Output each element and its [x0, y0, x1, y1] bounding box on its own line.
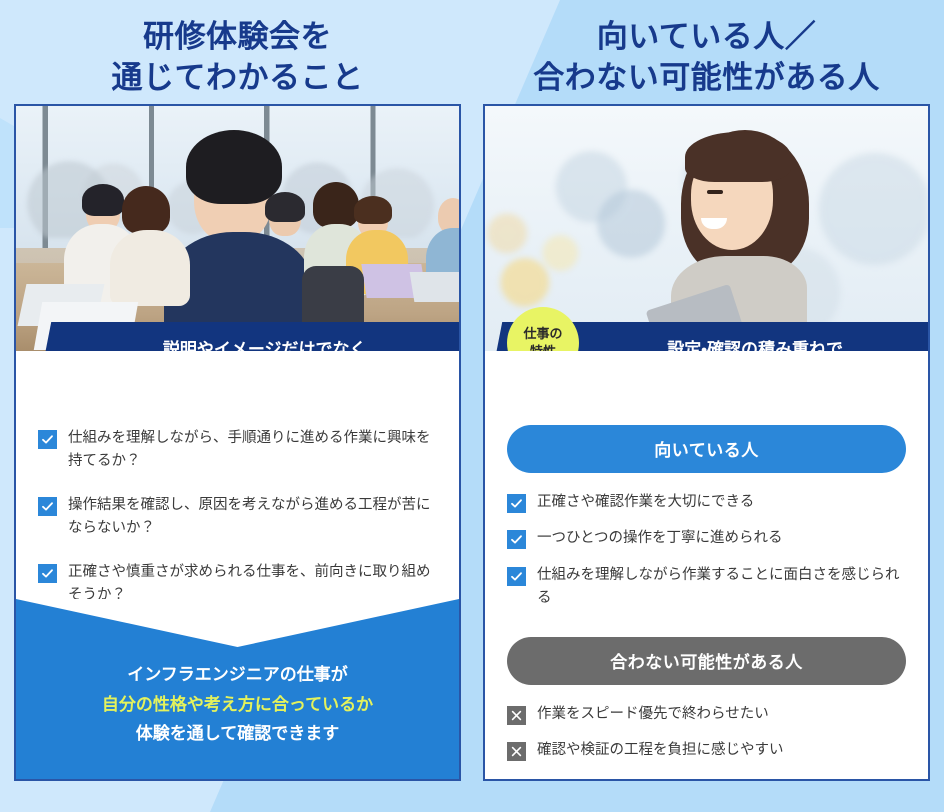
list-item-text: 一つひとつの操作を丁寧に進められる [537, 527, 782, 550]
good-fit-pill-wrap: 向いている人 [507, 425, 906, 473]
list-item-text: 仕組みを理解しながら、手順通りに進める作業に興味を持てるか？ [68, 427, 437, 474]
list-item-text: 仕組みを理解しながら作業することに面白さを感じられる [537, 564, 906, 611]
list-item-text: 操作結果を確認し、原因を考えながら進める工程が苦にならないか？ [68, 494, 437, 541]
right-ribbon-line1: 設定・確認の積み重ねで [564, 337, 928, 351]
background-person-5-hair [354, 196, 392, 224]
conclusion-line3: 体験を通して確認できます [16, 719, 459, 749]
list-item: 作業をスピード優先で終わらせたい [507, 703, 906, 726]
list-item: 仕組みを理解しながら、手順通りに進める作業に興味を持てるか？ [38, 427, 437, 474]
background-person-3-hair [265, 192, 305, 222]
left-column: 研修体験会を 通じてわかること [14, 0, 461, 781]
woman-eye [707, 190, 723, 194]
bad-fit-pill: 合わない可能性がある人 [507, 637, 906, 685]
right-heading-line1: 向いている人／ [483, 16, 930, 57]
left-conclusion-panel: インフラエンジニアの仕事が 自分の性格や考え方に合っているか 体験を通して確認で… [16, 599, 459, 779]
badge-line1: 仕事の [523, 325, 562, 343]
check-icon [507, 530, 526, 549]
check-icon [38, 564, 57, 583]
list-item: 一つひとつの操作を丁寧に進められる [507, 527, 906, 550]
list-item-text: 作業をスピード優先で終わらせたい [537, 703, 769, 726]
chevron-notch-decor [16, 599, 459, 647]
right-card-body: 向いている人 正確さや確認作業を大切にできる [485, 351, 928, 763]
badge-line2: 特性 [530, 343, 556, 351]
good-fit-list: 正確さや確認作業を大切にできる 一つひとつの操作を丁寧に進められる [507, 491, 906, 611]
check-icon [38, 497, 57, 516]
training-room-image [16, 106, 459, 351]
background-person-2-torso [110, 230, 190, 306]
good-fit-pill: 向いている人 [507, 425, 906, 473]
conclusion-line2-highlight: 自分の性格や考え方に合っているか [16, 690, 459, 720]
left-checklist: 仕組みを理解しながら、手順通りに進める作業に興味を持てるか？ 操作結果を確認し、… [38, 427, 437, 608]
comparison-section: 研修体験会を 通じてわかること [0, 0, 944, 812]
right-column: 向いている人／ 合わない可能性がある人 [483, 0, 930, 781]
background-person-1-hair [82, 184, 124, 216]
list-item: 仕組みを理解しながら作業することに面白さを感じられる [507, 564, 906, 611]
background-person-2-hair [122, 186, 170, 234]
right-heading-line2: 合わない可能性がある人 [483, 57, 930, 98]
conclusion-line1: インフラエンジニアの仕事が [16, 660, 459, 690]
list-item: 確認や検証の工程を負担に感じやすい [507, 739, 906, 762]
woman-fringe [685, 132, 791, 182]
left-ribbon-line1: 説明やイメージだけでなく [43, 337, 459, 351]
list-item-text: 確認や検証の工程を負担に感じやすい [537, 739, 784, 762]
right-photo: 仕事の 特性 設定・確認の積み重ねで システム全体の安定を支える [485, 106, 928, 351]
left-card: 説明やイメージだけでなく 仕事の進め方を体感できる 仕組みを理解しながら、手順通… [14, 104, 461, 781]
left-heading: 研修体験会を 通じてわかること [14, 0, 461, 104]
cross-icon [507, 706, 526, 725]
right-heading: 向いている人／ 合わない可能性がある人 [483, 0, 930, 104]
cross-icon [507, 742, 526, 761]
check-icon [507, 567, 526, 586]
two-column-layout: 研修体験会を 通じてわかること [0, 0, 944, 781]
list-item: 操作結果を確認し、原因を考えながら進める工程が苦にならないか？ [38, 494, 437, 541]
list-item-text: 正確さや確認作業を大切にできる [537, 491, 754, 514]
check-icon [38, 430, 57, 449]
left-heading-line2: 通じてわかること [14, 57, 461, 98]
check-icon [507, 494, 526, 513]
list-item: 正確さや確認作業を大切にできる [507, 491, 906, 514]
left-heading-line1: 研修体験会を [14, 16, 461, 57]
right-card: 仕事の 特性 設定・確認の積み重ねで システム全体の安定を支える 向いている人 [483, 104, 930, 781]
laptop-4 [410, 272, 459, 302]
bad-fit-pill-wrap: 合わない可能性がある人 [507, 637, 906, 685]
foreground-person-hair [186, 130, 282, 204]
background-person-4-hair [313, 182, 359, 228]
left-ribbon-banner: 説明やイメージだけでなく 仕事の進め方を体感できる [34, 322, 459, 351]
left-card-body: 仕組みを理解しながら、手順通りに進める作業に興味を持てるか？ 操作結果を確認し、… [16, 351, 459, 608]
bad-fit-list: 作業をスピード優先で終わらせたい 確認や検証の工程を負担に感じやすい [507, 703, 906, 763]
left-photo: 説明やイメージだけでなく 仕事の進め方を体感できる [16, 106, 459, 351]
left-conclusion-text: インフラエンジニアの仕事が 自分の性格や考え方に合っているか 体験を通して確認で… [16, 660, 459, 749]
